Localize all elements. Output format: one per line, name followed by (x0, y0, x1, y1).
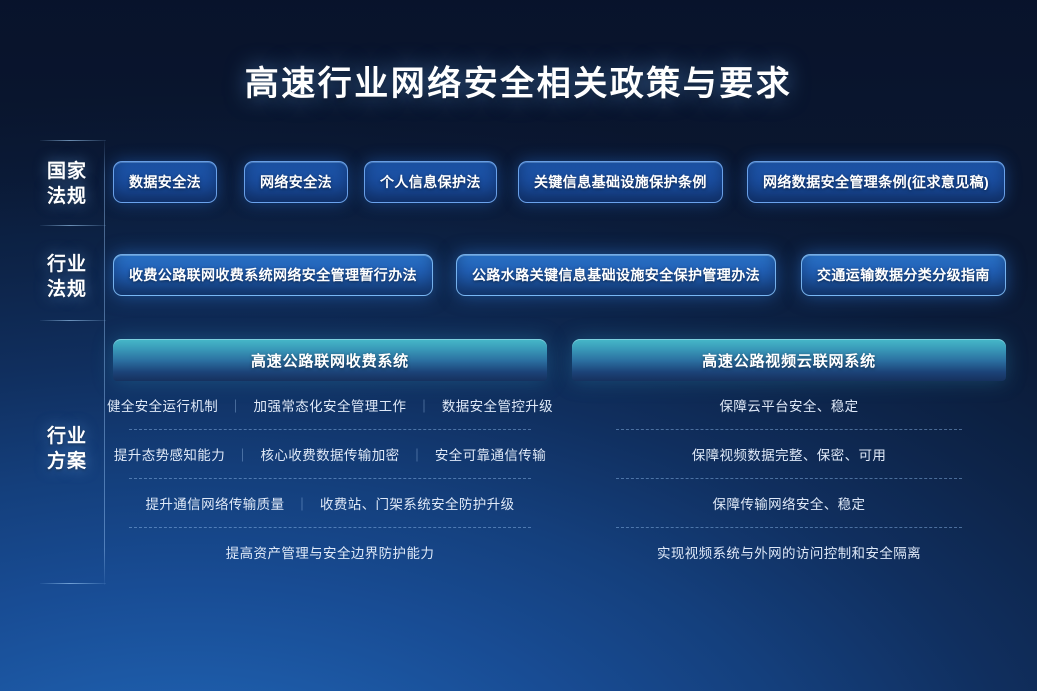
sidebar-divider-top (40, 140, 106, 141)
feature-row: 提高资产管理与安全边界防护能力 (113, 528, 547, 576)
feature-row: 健全安全运行机制 ｜ 加强常态化安全管理工作 ｜ 数据安全管控升级 (113, 381, 547, 429)
feature-item: 保障传输网络安全、稳定 (713, 493, 866, 513)
feature-item: 健全安全运行机制 (107, 395, 218, 415)
sidebar-label-line1: 国家 (47, 161, 87, 182)
sidebar-label-industry-solutions: 行业 方案 (36, 425, 98, 474)
feature-item: 核心收费数据传输加密 (261, 444, 400, 464)
panel-toll-system: 高速公路联网收费系统 健全安全运行机制 ｜ 加强常态化安全管理工作 ｜ 数据安全… (113, 339, 547, 584)
feature-item: 保障云平台安全、稳定 (720, 395, 859, 415)
feature-item: 提高资产管理与安全边界防护能力 (226, 542, 435, 562)
feature-item: 实现视频系统与外网的访问控制和安全隔离 (657, 542, 921, 562)
feature-item: 保障视频数据完整、保密、可用 (692, 444, 887, 464)
panel-body-toll-system: 健全安全运行机制 ｜ 加强常态化安全管理工作 ｜ 数据安全管控升级 提升态势感知… (113, 381, 547, 576)
feature-row: 提升通信网络传输质量 ｜ 收费站、门架系统安全防护升级 (113, 479, 547, 527)
feature-separator: ｜ (406, 396, 441, 415)
sidebar-divider-bottom (40, 583, 106, 584)
panel-video-cloud-system: 高速公路视频云联网系统 保障云平台安全、稳定 保障视频数据完整、保密、可用 保障… (572, 339, 1006, 584)
sidebar-label-line2: 法规 (47, 186, 87, 207)
chip-national-4[interactable]: 网络数据安全管理条例(征求意见稿) (747, 161, 1005, 203)
sidebar-label-line1: 行业 (47, 254, 87, 275)
category-sidebar: 国家 法规 行业 法规 行业 方案 (36, 140, 105, 585)
chip-industry-2[interactable]: 交通运输数据分类分级指南 (801, 254, 1006, 296)
feature-separator: ｜ (400, 445, 435, 464)
feature-item: 加强常态化安全管理工作 (254, 395, 407, 415)
feature-item: 收费站、门架系统安全防护升级 (320, 493, 515, 513)
feature-item: 安全可靠通信传输 (435, 444, 546, 464)
page-title: 高速行业网络安全相关政策与要求 (0, 56, 1037, 105)
sidebar-divider-1 (40, 225, 106, 226)
sidebar-label-industry-regulations: 行业 法规 (36, 253, 98, 302)
feature-row: 实现视频系统与外网的访问控制和安全隔离 (572, 528, 1006, 576)
sidebar-label-national-regulations: 国家 法规 (36, 160, 98, 209)
chip-national-1[interactable]: 网络安全法 (244, 161, 348, 203)
feature-item: 提升态势感知能力 (114, 444, 225, 464)
chip-national-3[interactable]: 关键信息基础设施保护条例 (518, 161, 723, 203)
feature-row: 保障云平台安全、稳定 (572, 381, 1006, 429)
feature-row: 保障视频数据完整、保密、可用 (572, 430, 1006, 478)
chip-industry-0[interactable]: 收费公路联网收费系统网络安全管理暂行办法 (113, 254, 433, 296)
feature-separator: ｜ (225, 445, 260, 464)
sidebar-label-line1: 行业 (47, 426, 87, 447)
sidebar-divider-2 (40, 320, 106, 321)
panel-header-video-cloud-system: 高速公路视频云联网系统 (572, 339, 1006, 381)
panel-body-video-cloud-system: 保障云平台安全、稳定 保障视频数据完整、保密、可用 保障传输网络安全、稳定 实现… (572, 381, 1006, 576)
panel-header-toll-system: 高速公路联网收费系统 (113, 339, 547, 381)
feature-row: 保障传输网络安全、稳定 (572, 479, 1006, 527)
feature-separator: ｜ (284, 494, 319, 513)
chip-national-0[interactable]: 数据安全法 (113, 161, 217, 203)
feature-row: 提升态势感知能力 ｜ 核心收费数据传输加密 ｜ 安全可靠通信传输 (113, 430, 547, 478)
chip-national-2[interactable]: 个人信息保护法 (364, 161, 497, 203)
chip-industry-1[interactable]: 公路水路关键信息基础设施安全保护管理办法 (456, 254, 776, 296)
sidebar-label-line2: 法规 (47, 279, 87, 300)
sidebar-label-line2: 方案 (47, 451, 87, 472)
feature-item: 数据安全管控升级 (442, 395, 553, 415)
sidebar-vertical-divider (104, 140, 105, 585)
feature-separator: ｜ (218, 396, 253, 415)
feature-item: 提升通信网络传输质量 (145, 493, 284, 513)
slide-stage: 高速行业网络安全相关政策与要求 国家 法规 行业 法规 行业 方案 数据安全法 … (0, 0, 1037, 691)
